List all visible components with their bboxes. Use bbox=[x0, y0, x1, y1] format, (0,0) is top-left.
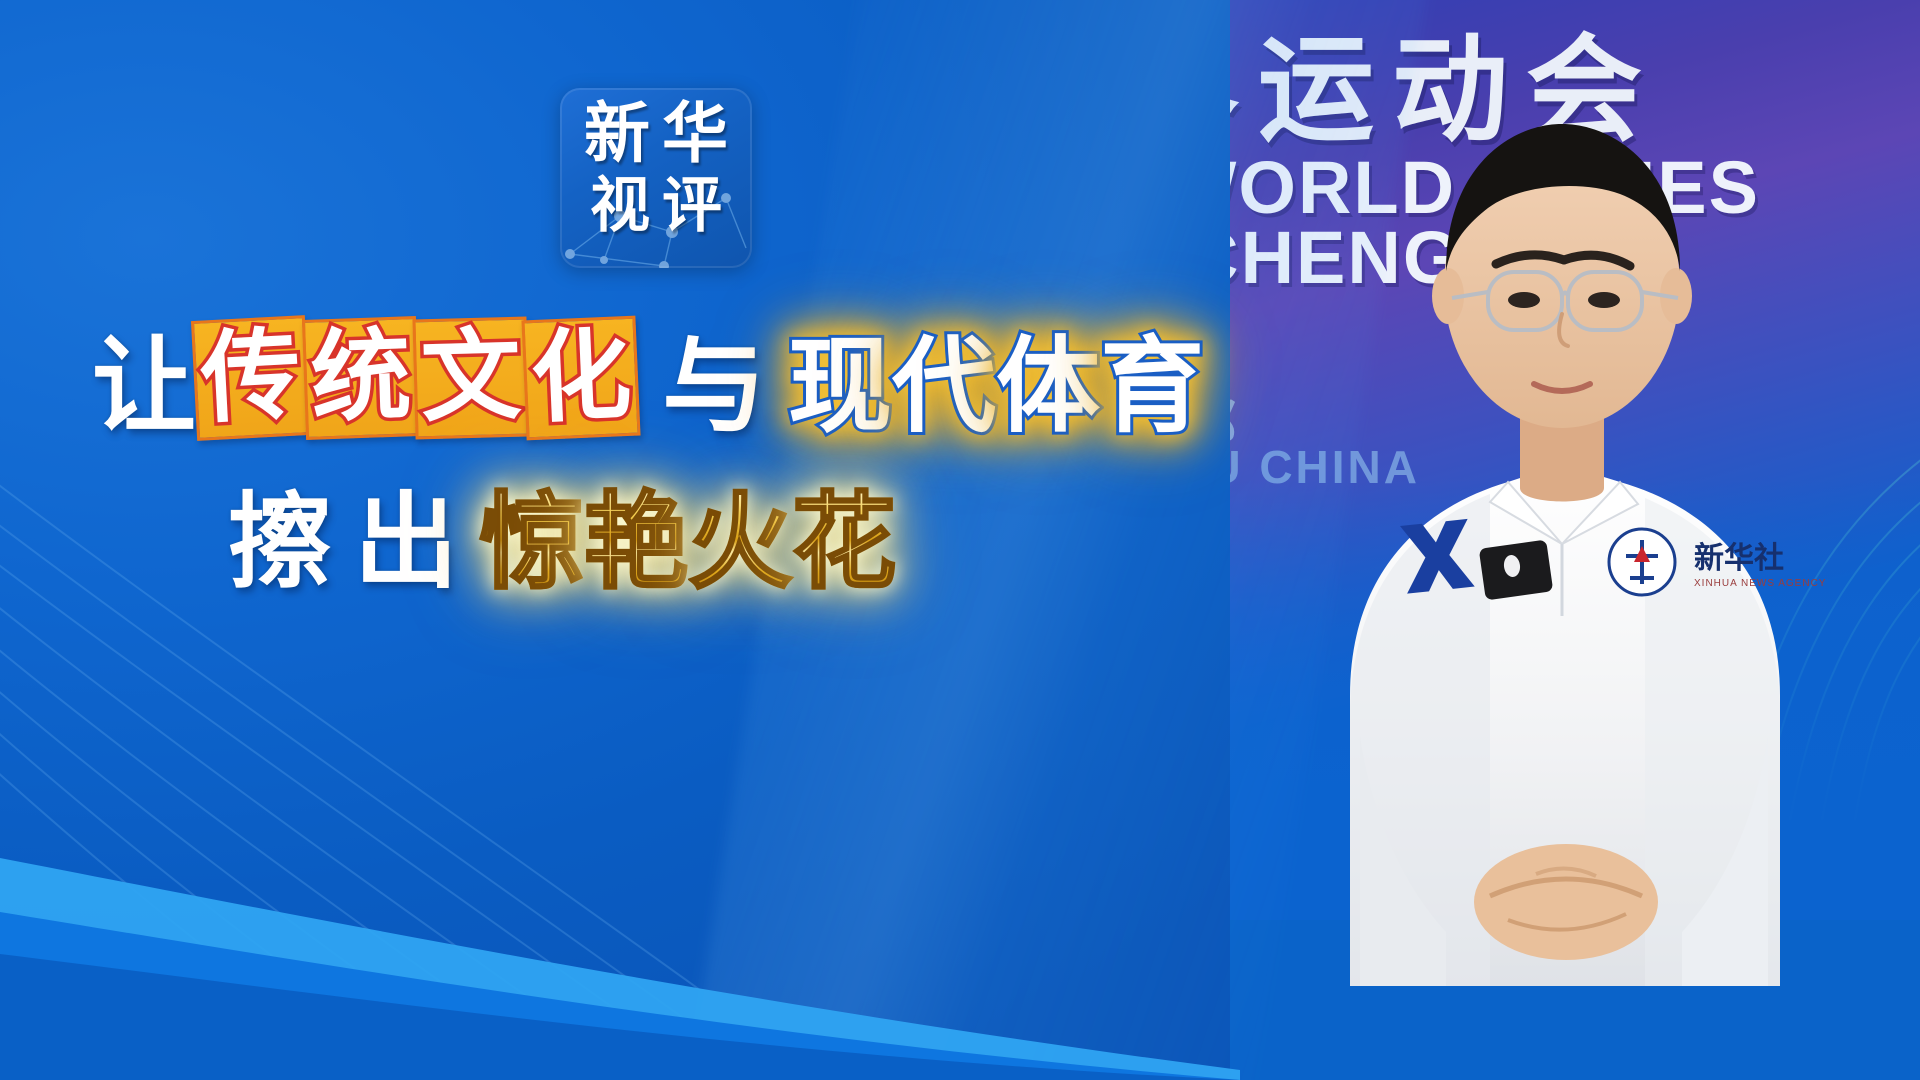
speaker-person: 新华社 XINHUA NEWS AGENCY bbox=[1190, 96, 1920, 986]
logo-char-hua: 华 bbox=[662, 100, 728, 166]
svg-text:新华社: 新华社 bbox=[1694, 541, 1784, 576]
video-frame: 世界运动会 THE WORLD GAMES 2025 CHENGDU 中国成都 … bbox=[0, 0, 1920, 1080]
lavalier-microphone bbox=[1479, 540, 1554, 601]
logo-char-shi: 视 bbox=[590, 176, 650, 236]
xinhua-shiping-logo: 新 华 视 评 bbox=[560, 88, 752, 268]
svg-text:XINHUA NEWS AGENCY: XINHUA NEWS AGENCY bbox=[1694, 578, 1826, 589]
logo-text-top-row: 新 华 bbox=[560, 100, 752, 166]
logo-text-bottom-row: 视 评 bbox=[560, 176, 752, 236]
logo-char-xin: 新 bbox=[584, 100, 650, 166]
clasped-hands bbox=[1474, 844, 1658, 960]
bottom-wave-decoration bbox=[0, 740, 1240, 1080]
logo-char-ping: 评 bbox=[662, 176, 722, 236]
